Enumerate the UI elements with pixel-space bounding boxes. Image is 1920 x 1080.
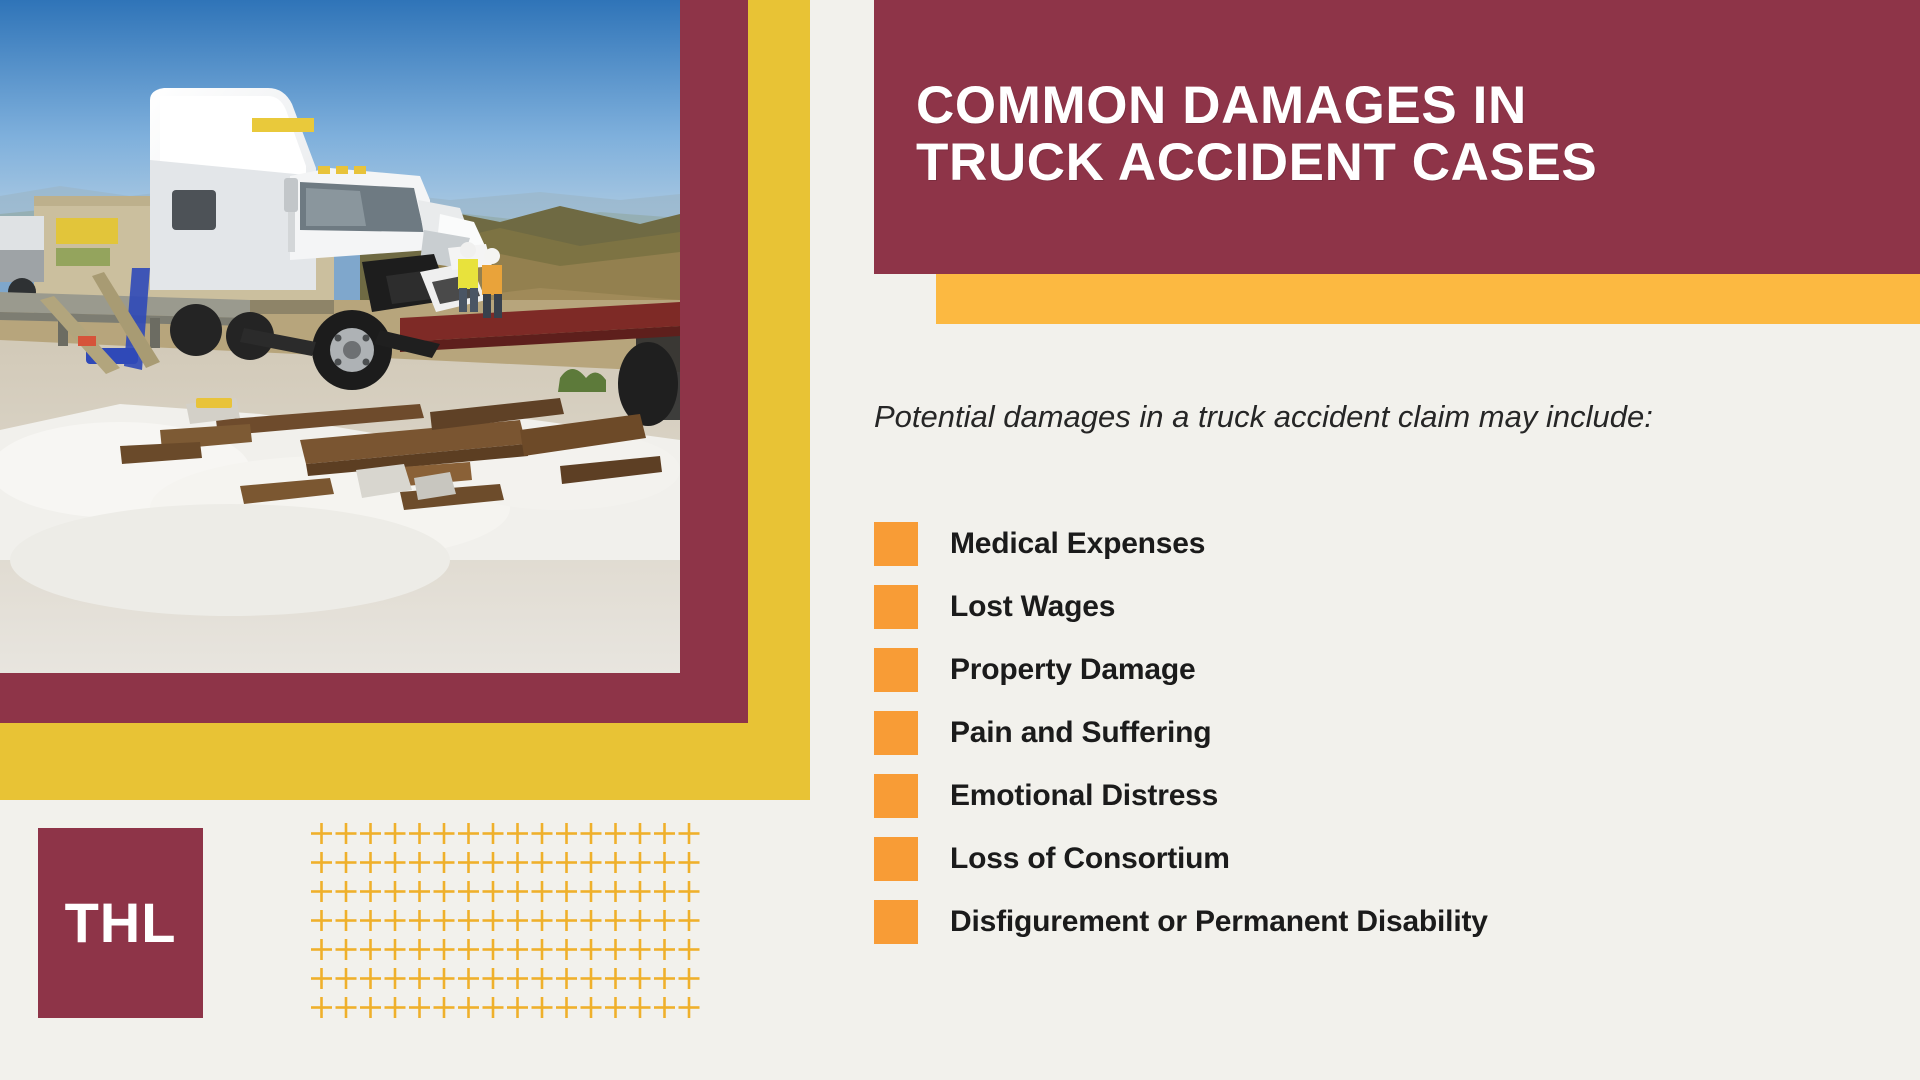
square-bullet-icon xyxy=(874,522,918,566)
list-item-label: Emotional Distress xyxy=(950,779,1218,813)
list-item: Lost Wages xyxy=(874,575,1874,638)
square-bullet-icon xyxy=(874,837,918,881)
square-bullet-icon xyxy=(874,900,918,944)
intro-text: Potential damages in a truck accident cl… xyxy=(874,396,1794,437)
page-title-line-1: COMMON DAMAGES IN xyxy=(916,77,1597,134)
square-bullet-icon xyxy=(874,585,918,629)
page-title-line-2: TRUCK ACCIDENT CASES xyxy=(916,134,1597,191)
list-item: Property Damage xyxy=(874,638,1874,701)
thl-logo: THL xyxy=(38,828,203,1018)
plus-grid-decoration xyxy=(310,822,710,1032)
list-item-label: Pain and Suffering xyxy=(950,716,1211,750)
list-item-label: Medical Expenses xyxy=(950,527,1205,561)
list-item: Emotional Distress xyxy=(874,764,1874,827)
list-item: Disfigurement or Permanent Disability xyxy=(874,890,1874,953)
header-accent-bar xyxy=(936,274,1920,324)
square-bullet-icon xyxy=(874,711,918,755)
list-item: Medical Expenses xyxy=(874,512,1874,575)
list-item-label: Disfigurement or Permanent Disability xyxy=(950,905,1488,939)
list-item: Pain and Suffering xyxy=(874,701,1874,764)
page-title: COMMON DAMAGES IN TRUCK ACCIDENT CASES xyxy=(874,77,1597,197)
list-item-label: Property Damage xyxy=(950,653,1195,687)
header-band: COMMON DAMAGES IN TRUCK ACCIDENT CASES xyxy=(874,0,1920,274)
damages-list: Medical Expenses Lost Wages Property Dam… xyxy=(874,512,1874,953)
square-bullet-icon xyxy=(874,774,918,818)
list-item-label: Lost Wages xyxy=(950,590,1115,624)
list-item: Loss of Consortium xyxy=(874,827,1874,890)
infographic-canvas: COMMON DAMAGES IN TRUCK ACCIDENT CASES P… xyxy=(0,0,1920,1080)
square-bullet-icon xyxy=(874,648,918,692)
truck-accident-photo xyxy=(0,0,680,673)
thl-logo-text: THL xyxy=(65,895,177,951)
list-item-label: Loss of Consortium xyxy=(950,842,1230,876)
